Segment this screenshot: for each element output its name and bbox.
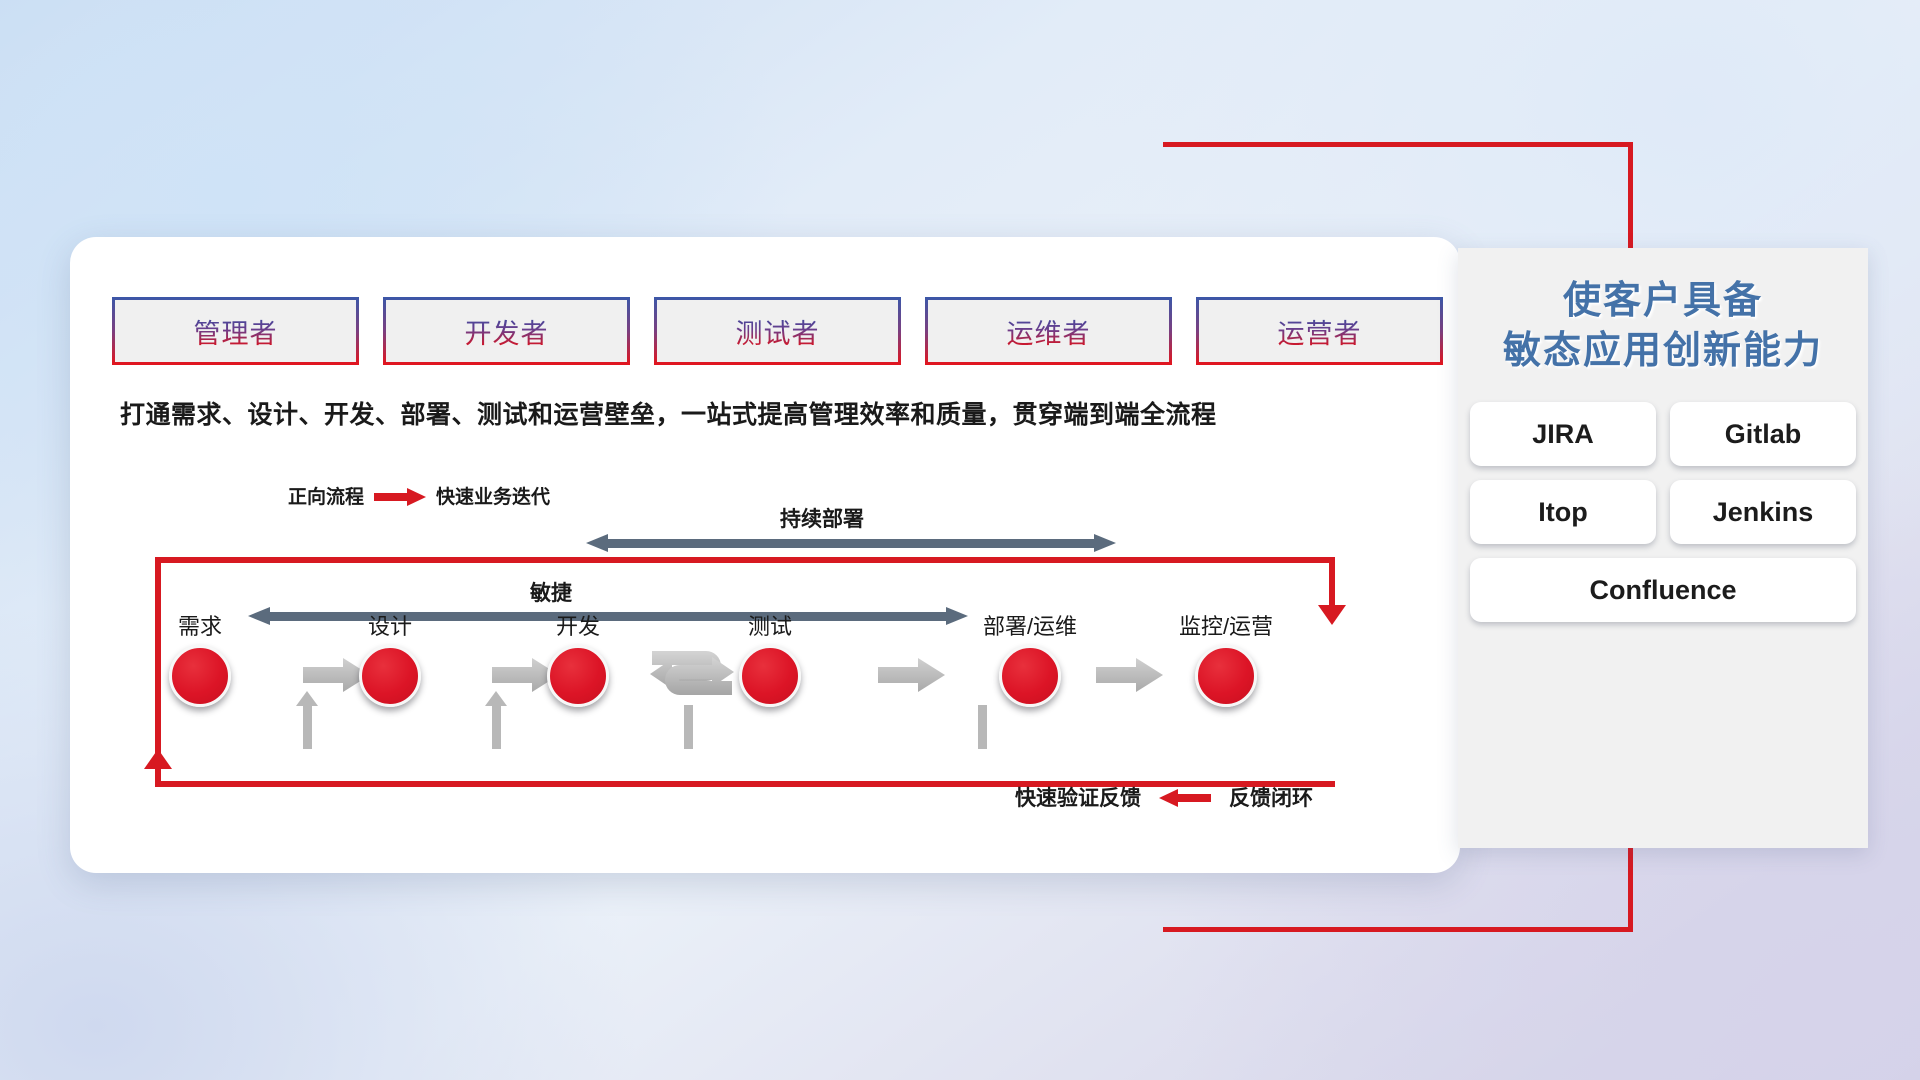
role-box-tester[interactable]: 测试者 bbox=[654, 297, 901, 365]
role-label: 运营者 bbox=[1278, 312, 1362, 351]
stage-label: 需求 bbox=[140, 609, 260, 641]
panel-title-line-1: 使客户具备 bbox=[1458, 276, 1868, 326]
description-text: 打通需求、设计、开发、部署、测试和运营壁垒，一站式提高管理效率和质量，贯穿端到端… bbox=[120, 395, 1420, 431]
role-label: 运维者 bbox=[1007, 312, 1091, 351]
tool-box-jira[interactable]: JIRA bbox=[1470, 402, 1656, 466]
stage-requirement[interactable]: 需求 bbox=[140, 609, 260, 707]
continuous-deployment-double-arrow-icon bbox=[586, 534, 1116, 552]
stage-dot bbox=[739, 645, 801, 707]
role-box-manager[interactable]: 管理者 bbox=[112, 297, 359, 365]
role-label: 管理者 bbox=[194, 312, 278, 351]
tool-box-confluence[interactable]: Confluence bbox=[1470, 558, 1856, 622]
stem-connector bbox=[978, 705, 987, 749]
arrow-head-left bbox=[586, 534, 608, 552]
arrow-right-red-icon bbox=[374, 489, 426, 503]
stage-monitor-operations[interactable]: 监控/运营 bbox=[1146, 609, 1306, 707]
stem-arrow-head-icon bbox=[485, 691, 507, 706]
stage-dot bbox=[1195, 645, 1257, 707]
feedback-loop-label: 反馈闭环 bbox=[1229, 782, 1313, 812]
stage-dot bbox=[169, 645, 231, 707]
panel-title: 使客户具备 敏态应用创新能力 bbox=[1458, 248, 1868, 376]
stem-arrow-head-icon bbox=[296, 691, 318, 706]
role-box-row: 管理者 开发者 测试者 运维者 运营者 bbox=[112, 297, 1443, 365]
stage-label: 设计 bbox=[330, 609, 450, 641]
tool-box-jenkins[interactable]: Jenkins bbox=[1670, 480, 1856, 544]
stage-deploy-ops[interactable]: 部署/运维 bbox=[950, 609, 1110, 707]
tool-box-gitlab[interactable]: Gitlab bbox=[1670, 402, 1856, 466]
forward-flow-label: 正向流程 bbox=[288, 482, 364, 509]
feedback-legend: 快速验证反馈 反馈闭环 bbox=[1015, 782, 1313, 812]
main-content-card: 管理者 开发者 测试者 运维者 运营者 打通需求、设计、开发、部署、测试和运营壁… bbox=[70, 237, 1460, 873]
stage-dot bbox=[547, 645, 609, 707]
role-box-operator[interactable]: 运营者 bbox=[1196, 297, 1443, 365]
arrow-head-right bbox=[1094, 534, 1116, 552]
stem-connector bbox=[303, 705, 312, 749]
stage-dot bbox=[999, 645, 1061, 707]
stage-label: 开发 bbox=[518, 609, 638, 641]
block-arrow-right-icon bbox=[878, 657, 946, 693]
role-box-developer[interactable]: 开发者 bbox=[383, 297, 630, 365]
stem-connector bbox=[684, 705, 693, 749]
forward-flow-result: 快速业务迭代 bbox=[436, 482, 550, 509]
slide-canvas: 管理者 开发者 测试者 运维者 运营者 打通需求、设计、开发、部署、测试和运营壁… bbox=[0, 0, 1920, 1080]
stage-development[interactable]: 开发 bbox=[518, 609, 638, 707]
continuous-deployment-label: 持续部署 bbox=[780, 503, 864, 533]
forward-flow-legend: 正向流程 快速业务迭代 bbox=[288, 482, 550, 509]
red-loop-right-segment bbox=[1329, 557, 1335, 609]
arrow-left-red-icon bbox=[1159, 790, 1211, 804]
stage-label: 部署/运维 bbox=[950, 609, 1110, 641]
capability-panel: 使客户具备 敏态应用创新能力 JIRA Gitlab Itop Jenkins … bbox=[1458, 248, 1868, 848]
stage-design[interactable]: 设计 bbox=[330, 609, 450, 707]
red-loop-arrow-up-icon bbox=[144, 749, 172, 769]
stage-pipeline: 需求 设计 bbox=[118, 609, 1418, 739]
stem-connector bbox=[492, 705, 501, 749]
role-label: 开发者 bbox=[465, 312, 549, 351]
stage-testing[interactable]: 测试 bbox=[710, 609, 830, 707]
tool-grid: JIRA Gitlab Itop Jenkins Confluence bbox=[1470, 402, 1856, 622]
arrow-shaft bbox=[606, 539, 1096, 548]
stage-label: 监控/运营 bbox=[1146, 609, 1306, 641]
role-label: 测试者 bbox=[736, 312, 820, 351]
stage-dot bbox=[359, 645, 421, 707]
feedback-result-label: 快速验证反馈 bbox=[1015, 782, 1141, 812]
role-box-ops-engineer[interactable]: 运维者 bbox=[925, 297, 1172, 365]
stage-label: 测试 bbox=[710, 609, 830, 641]
panel-title-line-2: 敏态应用创新能力 bbox=[1458, 326, 1868, 376]
tool-box-itop[interactable]: Itop bbox=[1470, 480, 1656, 544]
